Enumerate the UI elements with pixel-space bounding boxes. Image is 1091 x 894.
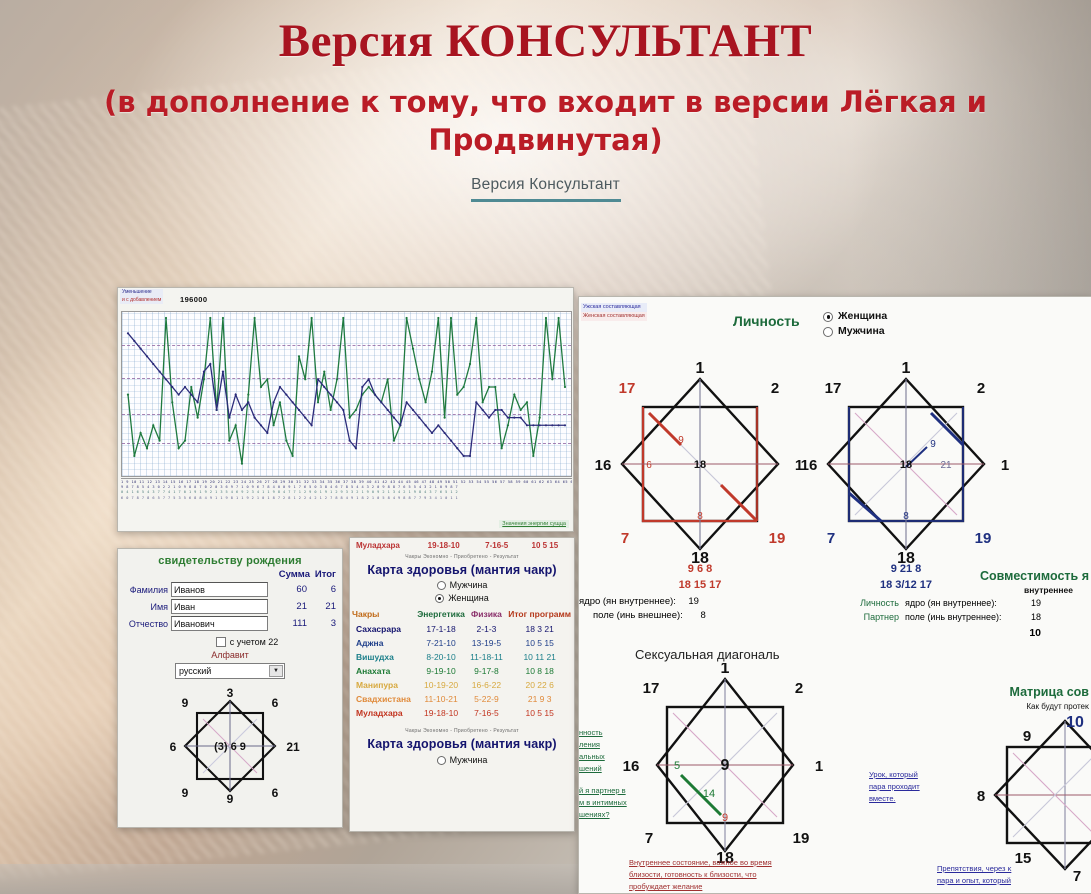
chart-data-point bbox=[482, 409, 484, 411]
compat-row: Личность ядро (ян внутреннее): 19 bbox=[847, 597, 1041, 611]
personality-title: Личность bbox=[733, 313, 800, 329]
legend-female-component: Женская составляющая bbox=[581, 312, 647, 321]
cell-total: 10 5 15 bbox=[505, 706, 574, 720]
cell-chakra: Манипура bbox=[350, 678, 415, 692]
chart-data-point bbox=[228, 417, 230, 419]
account22-label: с учетом 22 bbox=[230, 637, 279, 647]
chart-data-point bbox=[152, 363, 154, 365]
chart-data-point bbox=[545, 317, 547, 319]
chart-data-point bbox=[368, 386, 370, 388]
table-row: Анахата9-19-109-17-810 8 18 bbox=[350, 664, 574, 678]
sexual-diagonal-title: Сексуальная диагональ bbox=[635, 647, 780, 662]
chart-data-point bbox=[494, 386, 496, 388]
cell-energy: 9-19-10 bbox=[415, 664, 468, 678]
diamond-center-value: (3) 6 9 bbox=[214, 741, 246, 753]
birth-row[interactable]: Фамилия Иванов 60 6 bbox=[118, 581, 342, 598]
chart-data-point bbox=[399, 424, 401, 426]
chart-data-point bbox=[235, 394, 237, 396]
chart-data-point bbox=[235, 424, 237, 426]
personality-compatibility-window[interactable]: Ужская составляющая Женская составляющая… bbox=[578, 296, 1091, 894]
personality-gender-radios[interactable]: Женщина Мужчина bbox=[823, 309, 887, 339]
chart-data-point bbox=[368, 378, 370, 380]
fragment-obstacles-2[interactable]: пара и опыт, который bbox=[937, 875, 1011, 887]
page-subtitle: (в дополнение к тому, что входит в верси… bbox=[0, 83, 1091, 160]
fragment-5[interactable]: й я партнер в bbox=[579, 785, 626, 797]
cell-chakra: Аджна bbox=[350, 636, 415, 650]
chart-data-point bbox=[190, 394, 192, 396]
chart-data-point bbox=[488, 386, 490, 388]
sum-line-1: 9 6 8 bbox=[585, 562, 815, 578]
chart-data-point bbox=[425, 401, 427, 403]
diamond-br-value: 7 bbox=[1073, 868, 1081, 883]
cell-physics: 5-22-9 bbox=[468, 692, 506, 706]
chart-data-point bbox=[456, 394, 458, 396]
birth-column-headers: Сумма Итог bbox=[118, 567, 342, 581]
tagline-block: Версия Консультант bbox=[0, 176, 1091, 202]
chart-data-point bbox=[513, 394, 515, 396]
chart-data-point bbox=[323, 371, 325, 373]
chart-data-point bbox=[304, 417, 306, 419]
chart-data-point bbox=[380, 401, 382, 403]
fragment-lesson-3[interactable]: вместе. bbox=[869, 793, 896, 805]
cell-energy: 10-19-20 bbox=[415, 678, 468, 692]
fragment-intimacy-3[interactable]: пробуждает желание bbox=[629, 881, 702, 893]
diamond-br-value: 6 bbox=[272, 786, 279, 800]
diamond-left-value: 16 bbox=[801, 457, 818, 474]
chart-data-point bbox=[361, 386, 363, 388]
diamond-center-value: 18 bbox=[694, 459, 706, 471]
diamond-right-value: 1 bbox=[1001, 457, 1009, 474]
chart-data-point bbox=[558, 317, 560, 319]
chart-data-point bbox=[393, 440, 395, 442]
cell-chakra: Анахата bbox=[350, 664, 415, 678]
chart-data-point bbox=[520, 409, 522, 411]
diamond-br-value: 19 bbox=[793, 830, 810, 847]
right-panel-legend: Ужская составляющая Женская составляющая bbox=[581, 303, 647, 321]
chart-data-point bbox=[437, 317, 439, 319]
cell-physics: 7-16-5 bbox=[468, 706, 506, 720]
chart-data-point bbox=[133, 340, 135, 342]
cell-total: 20 22 6 bbox=[505, 678, 574, 692]
core-value-pole: 8 bbox=[688, 609, 706, 623]
chart-data-point bbox=[241, 463, 243, 465]
chart-data-point bbox=[412, 348, 414, 350]
chart-data-point bbox=[387, 409, 389, 411]
cell-physics: 16-6-22 bbox=[468, 678, 506, 692]
chakra-table: Чакры Энергетика Физика Итог программ Са… bbox=[350, 607, 574, 720]
diamond-sexual-diagonal: 1 18 16 1 17 2 7 19 9 5 14 9 bbox=[605, 663, 845, 863]
diamond-bl-value: 15 bbox=[1015, 850, 1032, 867]
diamond-left-value: 8 bbox=[977, 788, 985, 805]
diamond-left-value: 6 bbox=[170, 740, 177, 754]
chart-data-point bbox=[501, 409, 503, 411]
chart-data-point bbox=[285, 394, 287, 396]
chart-data-point bbox=[222, 317, 224, 319]
chart-data-point bbox=[539, 417, 541, 419]
chart-data-point bbox=[304, 378, 306, 380]
cell-chakra: Сахасрара bbox=[350, 622, 415, 636]
chart-data-point bbox=[330, 409, 332, 411]
health-map-window[interactable]: Муладхара 19-18-10 7-16-5 10 5 15 Чакры … bbox=[349, 537, 575, 832]
chart-total-value: 196000 bbox=[180, 295, 207, 304]
radio-male-label: Мужчина bbox=[838, 324, 885, 339]
fragment-6[interactable]: м в интимных bbox=[579, 797, 627, 809]
core-row: ядро (ян внутреннее): 19 bbox=[579, 595, 706, 609]
chart-data-point bbox=[266, 378, 268, 380]
fragment-4[interactable]: шений bbox=[579, 763, 602, 775]
chart-data-point bbox=[140, 348, 142, 350]
patronymic-sum: 111 bbox=[271, 618, 307, 629]
chart-data-point bbox=[349, 440, 351, 442]
chart-data-point bbox=[418, 378, 420, 380]
chart-data-point bbox=[450, 317, 452, 319]
chart-data-point bbox=[431, 371, 433, 373]
chart-data-point bbox=[184, 440, 186, 442]
cell-chakra: Муладхара bbox=[350, 706, 415, 720]
diamond-bl-value: 7 bbox=[645, 830, 653, 847]
chart-data-point bbox=[336, 378, 338, 380]
chart-data-point bbox=[222, 371, 224, 373]
diamond-bl-value: 9 bbox=[182, 786, 189, 800]
chart-data-point bbox=[165, 317, 167, 319]
radio-male[interactable]: Мужчина bbox=[350, 579, 574, 592]
chart-data-point bbox=[273, 401, 275, 403]
health-panel-title-2: Карта здоровья (мантия чакр) bbox=[350, 737, 574, 751]
diamond-tl-value: 17 bbox=[643, 680, 660, 697]
chart-legend-item-1: Уменьшение bbox=[122, 289, 161, 297]
diamond-top-value: 1 bbox=[902, 360, 911, 377]
table-row: Муладхара19-18-107-16-510 5 15 bbox=[350, 706, 574, 720]
name-diamond-diagram: 3 9 6 21 9 6 9 6 (3) 6 9 bbox=[118, 685, 342, 805]
chart-data-point bbox=[342, 317, 344, 319]
diamond-bl-value: 7 bbox=[621, 530, 629, 547]
diamond-tr-value: 6 bbox=[272, 696, 279, 710]
diamond-tr-value: 2 bbox=[795, 680, 803, 697]
top-row-total: 10 5 15 bbox=[522, 541, 568, 550]
radio-icon[interactable] bbox=[823, 312, 833, 322]
chart-data-point bbox=[203, 371, 205, 373]
diamond-tl-value: 9 bbox=[1023, 728, 1031, 745]
table-row: Вишудха8-20-1011-18-1110 11 21 bbox=[350, 650, 574, 664]
firstname-total: 21 bbox=[310, 601, 336, 612]
chart-data-point bbox=[425, 424, 427, 426]
health-gender-radios[interactable]: Мужчина Женщина bbox=[350, 577, 574, 607]
heading-block: Версия КОНСУЛЬТАНТ (в дополнение к тому,… bbox=[0, 16, 1091, 202]
chart-data-point bbox=[507, 417, 509, 419]
chart-data-point bbox=[298, 355, 300, 357]
name-diamond-svg: 3 9 6 21 9 6 9 6 (3) 6 9 bbox=[135, 685, 325, 805]
chart-data-point bbox=[228, 440, 230, 442]
chart-data-point bbox=[140, 432, 142, 434]
fragment-2[interactable]: ления bbox=[579, 739, 600, 751]
chart-data-point bbox=[254, 317, 256, 319]
radio-icon[interactable] bbox=[435, 594, 444, 603]
chart-data-point bbox=[463, 386, 465, 388]
chart-data-point bbox=[545, 424, 547, 426]
chart-legend-item-2: и с добавлением bbox=[122, 297, 161, 305]
radio-male-label: Мужчина bbox=[450, 579, 488, 592]
fragment-obstacles-1[interactable]: Препятствия, через ĸ bbox=[937, 863, 1011, 875]
compat-who-1: Личность bbox=[847, 597, 899, 611]
birth-certificate-window[interactable]: свидетельству рождения Сумма Итог Фамили… bbox=[117, 548, 343, 828]
diamond-bl-value: 7 bbox=[827, 530, 835, 547]
compat-who-3 bbox=[847, 625, 899, 641]
alphabet-selected-value: русский bbox=[179, 666, 211, 676]
diamond-tr-value: 2 bbox=[977, 380, 985, 397]
alphabet-select[interactable]: русский ▼ bbox=[175, 663, 285, 679]
chart-data-point bbox=[355, 409, 357, 411]
chart-data-point bbox=[165, 378, 167, 380]
chart-data-point bbox=[520, 417, 522, 419]
chart-data-point bbox=[526, 424, 528, 426]
diamond-tl-value: 17 bbox=[619, 380, 636, 397]
chart-footer-link[interactable]: Значения энергии сущца bbox=[499, 520, 569, 528]
cell-energy: 8-20-10 bbox=[415, 650, 468, 664]
chart-data-point bbox=[349, 417, 351, 419]
label-surname: Фамилия bbox=[118, 585, 168, 595]
chart-data-point bbox=[241, 409, 243, 411]
chart-data-point bbox=[260, 386, 262, 388]
chart-data-point bbox=[526, 401, 528, 403]
diamond-tl-value: 9 bbox=[182, 696, 189, 710]
chart-data-point bbox=[564, 386, 566, 388]
fragment-intimacy-2[interactable]: близости, готовность к близости, что bbox=[629, 869, 757, 881]
diamond-inner-diag-value: 14 bbox=[703, 788, 715, 800]
birth-row[interactable]: Отчество Иванович 111 3 bbox=[118, 615, 342, 632]
chart-data-point bbox=[178, 394, 180, 396]
compat-value-1: 19 bbox=[1019, 597, 1041, 611]
checkbox-icon[interactable] bbox=[216, 637, 226, 647]
chevron-down-icon[interactable]: ▼ bbox=[269, 665, 283, 677]
fragment-lesson-2[interactable]: пара проходит bbox=[869, 781, 920, 793]
chart-data-point bbox=[254, 417, 256, 419]
label-firstname: Имя bbox=[118, 602, 168, 612]
chart-data-point bbox=[387, 378, 389, 380]
chart-data-point bbox=[551, 424, 553, 426]
radio-male[interactable]: Мужчина bbox=[823, 324, 887, 339]
diamond-top-value: 1 bbox=[696, 360, 705, 377]
account22-checkbox-row[interactable]: с учетом 22 bbox=[152, 637, 342, 647]
surname-input[interactable]: Иванов bbox=[171, 582, 268, 597]
chart-xtick-row: 6 0 7 8 7 8 6 5 7 7 5 3 5 6 8 8 4 9 1 1 … bbox=[121, 496, 572, 501]
birth-panel-title: свидетельству рождения bbox=[118, 549, 342, 567]
alphabet-label: Алфавит bbox=[118, 650, 342, 660]
radio-female[interactable]: Женщина bbox=[350, 592, 574, 605]
chart-data-point bbox=[475, 401, 477, 403]
chart-data-point bbox=[311, 424, 313, 426]
chart-data-point bbox=[412, 409, 414, 411]
chakra-table-header-row: Чакры Энергетика Физика Итог программ bbox=[350, 607, 574, 622]
chart-data-point bbox=[406, 317, 408, 319]
th-total: Итог программ bbox=[505, 607, 574, 622]
chart-data-point bbox=[197, 417, 199, 419]
diamond-right-value: 21 bbox=[286, 740, 300, 754]
diamond-br-value: 19 bbox=[975, 530, 992, 547]
diamond-matrix: 10 9 8 15 7 bbox=[967, 713, 1091, 883]
table-row: Сахасрара17-1-182-1-318 3 21 bbox=[350, 622, 574, 636]
chart-data-point bbox=[532, 455, 534, 457]
chart-data-point bbox=[311, 317, 313, 319]
chart-data-point bbox=[146, 447, 148, 449]
diamond-center-value: 9 bbox=[721, 757, 730, 774]
chart-data-point bbox=[374, 394, 376, 396]
chart-data-point bbox=[260, 424, 262, 426]
compatibility-title: Совместимость я bbox=[980, 569, 1089, 583]
chart-data-point bbox=[418, 417, 420, 419]
chart-data-point bbox=[292, 401, 294, 403]
chart-data-point bbox=[469, 455, 471, 457]
chart-window[interactable]: Уменьшение и с добавлением 196000 1 9 10… bbox=[117, 287, 574, 532]
chart-data-point bbox=[463, 455, 465, 457]
top-row-physics: 7-16-5 bbox=[472, 541, 522, 550]
diamond-inner-left-value: 5 bbox=[674, 760, 680, 772]
diamond-center-value: 18 bbox=[900, 459, 912, 471]
chart-data-point bbox=[539, 424, 541, 426]
core-left-values: ядро (ян внутреннее): 19 поле (инь внешн… bbox=[579, 595, 706, 624]
matrix-subtitle: Как будут протеĸ bbox=[1026, 702, 1089, 711]
firstname-input[interactable]: Иван bbox=[171, 599, 268, 614]
chart-data-point bbox=[184, 386, 186, 388]
diamond-left-value: 16 bbox=[623, 758, 640, 775]
chart-data-point bbox=[317, 401, 319, 403]
chart-header: Уменьшение и с добавлением 196000 bbox=[118, 288, 573, 310]
chart-data-point bbox=[475, 317, 477, 319]
cell-energy: 11-10-21 bbox=[415, 692, 468, 706]
surname-sum: 60 bbox=[271, 584, 307, 595]
compat-label-2: поле (инь внутреннее): bbox=[905, 611, 1013, 625]
chart-data-point bbox=[266, 432, 268, 434]
chart-data-point bbox=[437, 424, 439, 426]
matrix-title: Матрица сов bbox=[1010, 685, 1090, 699]
diamond-tr-value: 2 bbox=[771, 380, 779, 397]
chart-data-point bbox=[152, 424, 154, 426]
chart-data-point bbox=[146, 355, 148, 357]
core-label-pole: поле (инь внешнее): bbox=[579, 609, 683, 623]
tagline: Версия Консультант bbox=[471, 176, 620, 194]
chart-data-point bbox=[444, 417, 446, 419]
health-panel-title: Карта здоровья (мантия чакр) bbox=[350, 563, 574, 577]
radio-icon[interactable] bbox=[823, 327, 833, 337]
diamond-inner-bottom-value: 8 bbox=[697, 511, 703, 522]
radio-male-2[interactable]: Мужчина bbox=[350, 754, 574, 767]
compat-row: 10 bbox=[847, 625, 1041, 641]
health-note-top: Чакры Экономно - Приобретено - Результат bbox=[350, 550, 574, 563]
chart-data-point bbox=[159, 371, 161, 373]
legend-male-component: Ужская составляющая bbox=[581, 303, 647, 312]
chart-data-point bbox=[406, 401, 408, 403]
diamond-br-value: 19 bbox=[769, 530, 786, 547]
chart-data-point bbox=[330, 394, 332, 396]
cell-energy: 17-1-18 bbox=[415, 622, 468, 636]
chart-data-point bbox=[209, 317, 211, 319]
radio-female-label: Женщина bbox=[838, 309, 887, 324]
diamond-left-value: 16 bbox=[595, 457, 612, 474]
cell-total: 10 5 15 bbox=[505, 636, 574, 650]
radio-female-label: Женщина bbox=[448, 592, 489, 605]
chart-data-point bbox=[469, 363, 471, 365]
cell-physics: 2-1-3 bbox=[468, 622, 506, 636]
top-row-energy: 19-18-10 bbox=[416, 541, 472, 550]
chart-data-point bbox=[171, 386, 173, 388]
fragment-1[interactable]: нность bbox=[579, 727, 603, 739]
fragment-intimacy-1[interactable]: Внутреннее состояние, важное во время bbox=[629, 857, 772, 869]
chart-series-canvas bbox=[122, 312, 571, 477]
chart-data-point bbox=[355, 447, 357, 449]
chart-data-point bbox=[456, 447, 458, 449]
chart-data-point bbox=[342, 409, 344, 411]
compat-who-2: Партнер bbox=[847, 611, 899, 625]
chart-data-point bbox=[450, 440, 452, 442]
chart-data-point bbox=[393, 417, 395, 419]
top-row-chakra: Муладхара bbox=[356, 541, 416, 550]
table-row: Манипура10-19-2016-6-2220 22 6 bbox=[350, 678, 574, 692]
diamond-inner-right-value: 21 bbox=[940, 460, 952, 471]
chart-data-point bbox=[178, 447, 180, 449]
chart-data-point bbox=[171, 401, 173, 403]
diamond-personality-left: 1 18 16 1 17 2 7 19 18 9 6 8 bbox=[585, 355, 815, 565]
chart-series-line-1 bbox=[128, 318, 565, 464]
patronymic-input[interactable]: Иванович bbox=[171, 616, 268, 631]
diamond-personality-right: 1 18 16 1 17 2 7 19 18 9 21 8 bbox=[791, 355, 1021, 565]
chart-data-point bbox=[285, 440, 287, 442]
chart-data-point bbox=[431, 432, 433, 434]
compatibility-subtitle: внутреннее bbox=[1024, 585, 1073, 595]
compatibility-table: Личность ядро (ян внутреннее): 19 Партне… bbox=[847, 597, 1041, 641]
alphabet-select-wrap[interactable]: русский ▼ bbox=[118, 663, 342, 679]
diamond-tl-value: 17 bbox=[825, 380, 842, 397]
chart-data-point bbox=[279, 386, 281, 388]
health-top-row: Муладхара 19-18-10 7-16-5 10 5 15 bbox=[350, 538, 574, 550]
fragment-3[interactable]: альных bbox=[579, 751, 605, 763]
chart-data-point bbox=[501, 447, 503, 449]
fragment-7[interactable]: шениях? bbox=[579, 809, 610, 821]
diamond-right-value: 1 bbox=[815, 758, 823, 775]
chart-data-point bbox=[494, 409, 496, 411]
compat-label-3 bbox=[905, 625, 1013, 641]
cell-physics: 13-19-5 bbox=[468, 636, 506, 650]
cell-energy: 7-21-10 bbox=[415, 636, 468, 650]
chart-data-point bbox=[317, 378, 319, 380]
sum-line-2: 18 15 17 bbox=[585, 578, 815, 594]
compat-value-2: 18 bbox=[1019, 611, 1041, 625]
col-header-sum: Сумма bbox=[268, 569, 310, 580]
health-note-bottom: Чакры Экономно - Приобретено - Результат bbox=[350, 720, 574, 737]
chart-data-point bbox=[279, 401, 281, 403]
cell-physics: 11-18-11 bbox=[468, 650, 506, 664]
tagline-underline bbox=[471, 199, 621, 202]
chart-data-point bbox=[273, 424, 275, 426]
chart-data-point bbox=[507, 424, 509, 426]
diamond-bottom-value: 9 bbox=[227, 792, 234, 805]
diamond-top-value: 1 bbox=[721, 663, 730, 677]
radio-female[interactable]: Женщина bbox=[823, 309, 887, 324]
chart-data-point bbox=[444, 432, 446, 434]
cell-total: 18 3 21 bbox=[505, 622, 574, 636]
cell-total: 10 11 21 bbox=[505, 650, 574, 664]
fragment-lesson-1[interactable]: Урок, который bbox=[869, 769, 918, 781]
chart-data-point bbox=[247, 394, 249, 396]
chart-data-point bbox=[292, 455, 294, 457]
core-value-yadro: 19 bbox=[681, 595, 699, 609]
radio-male-2-label: Мужчина bbox=[450, 754, 488, 767]
birth-row[interactable]: Имя Иван 21 21 bbox=[118, 598, 342, 615]
diamond-inner-bottom-value: 9 bbox=[722, 812, 728, 824]
page-title: Версия КОНСУЛЬТАНТ bbox=[0, 16, 1091, 67]
radio-icon[interactable] bbox=[437, 756, 446, 765]
chart-data-point bbox=[513, 417, 515, 419]
core-label-yadro: ядро (ян внутреннее): bbox=[579, 595, 676, 609]
radio-icon[interactable] bbox=[437, 581, 446, 590]
